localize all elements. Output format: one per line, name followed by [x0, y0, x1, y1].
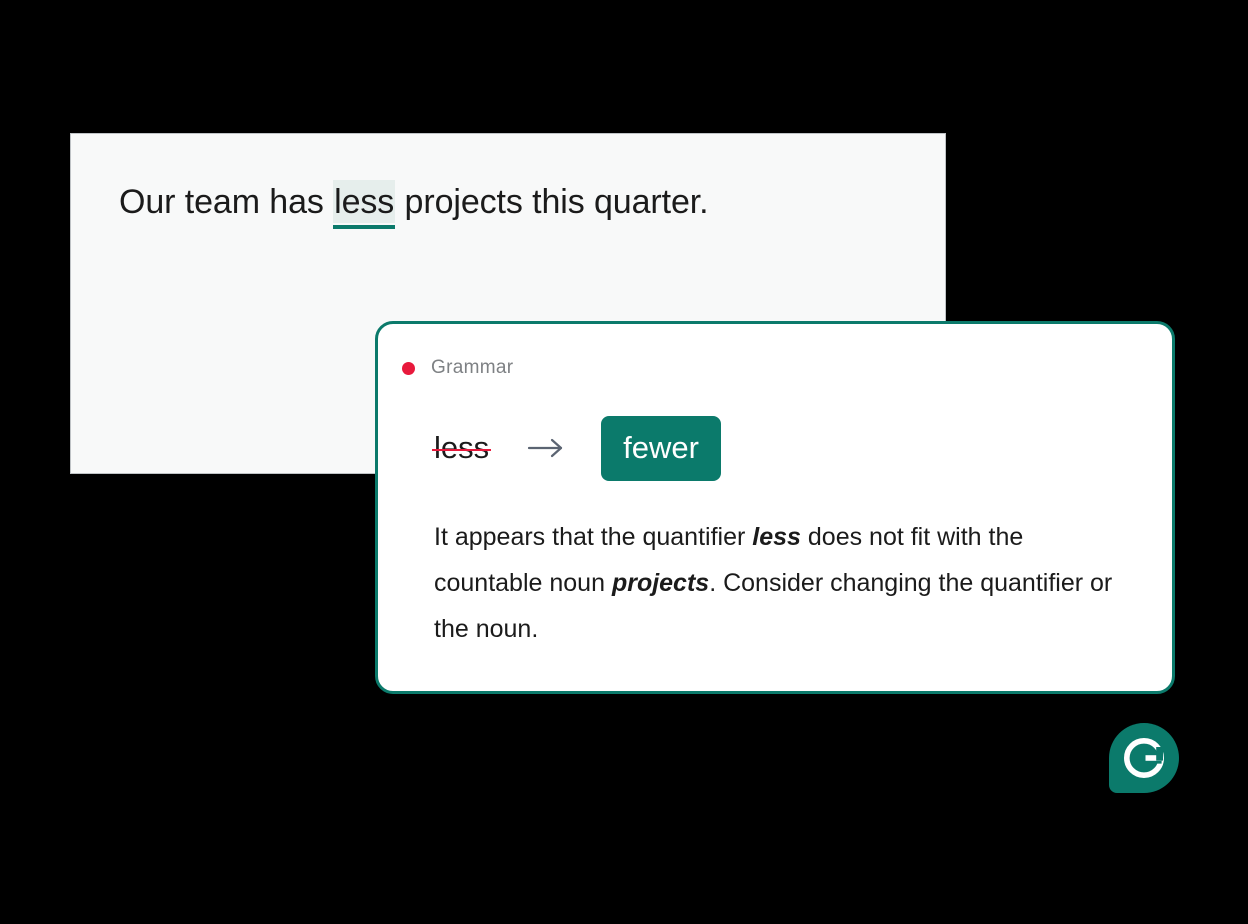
card-header: Grammar — [402, 357, 513, 379]
explanation-part-1: It appears that the quantifier — [434, 523, 752, 551]
sentence-text-after: projects this quarter. — [395, 183, 708, 221]
flagged-word-highlight[interactable]: less — [333, 180, 395, 223]
suggestion-card: Grammar less fewer It appears that the q… — [375, 321, 1175, 694]
explanation-emphasis-2: projects — [612, 569, 709, 597]
card-category-label: Grammar — [431, 357, 513, 379]
original-word: less — [434, 430, 491, 466]
category-dot-icon — [402, 362, 415, 375]
accept-suggestion-button[interactable]: fewer — [601, 416, 721, 481]
explanation-emphasis-1: less — [752, 523, 801, 551]
arrow-right-icon — [527, 436, 567, 460]
suggestion-row: less fewer — [434, 416, 721, 480]
grammarly-logo[interactable] — [1109, 723, 1179, 793]
document-sentence[interactable]: Our team has less projects this quarter. — [119, 182, 709, 223]
explanation-text: It appears that the quantifier less does… — [434, 514, 1134, 652]
sentence-text-before: Our team has — [119, 183, 333, 221]
